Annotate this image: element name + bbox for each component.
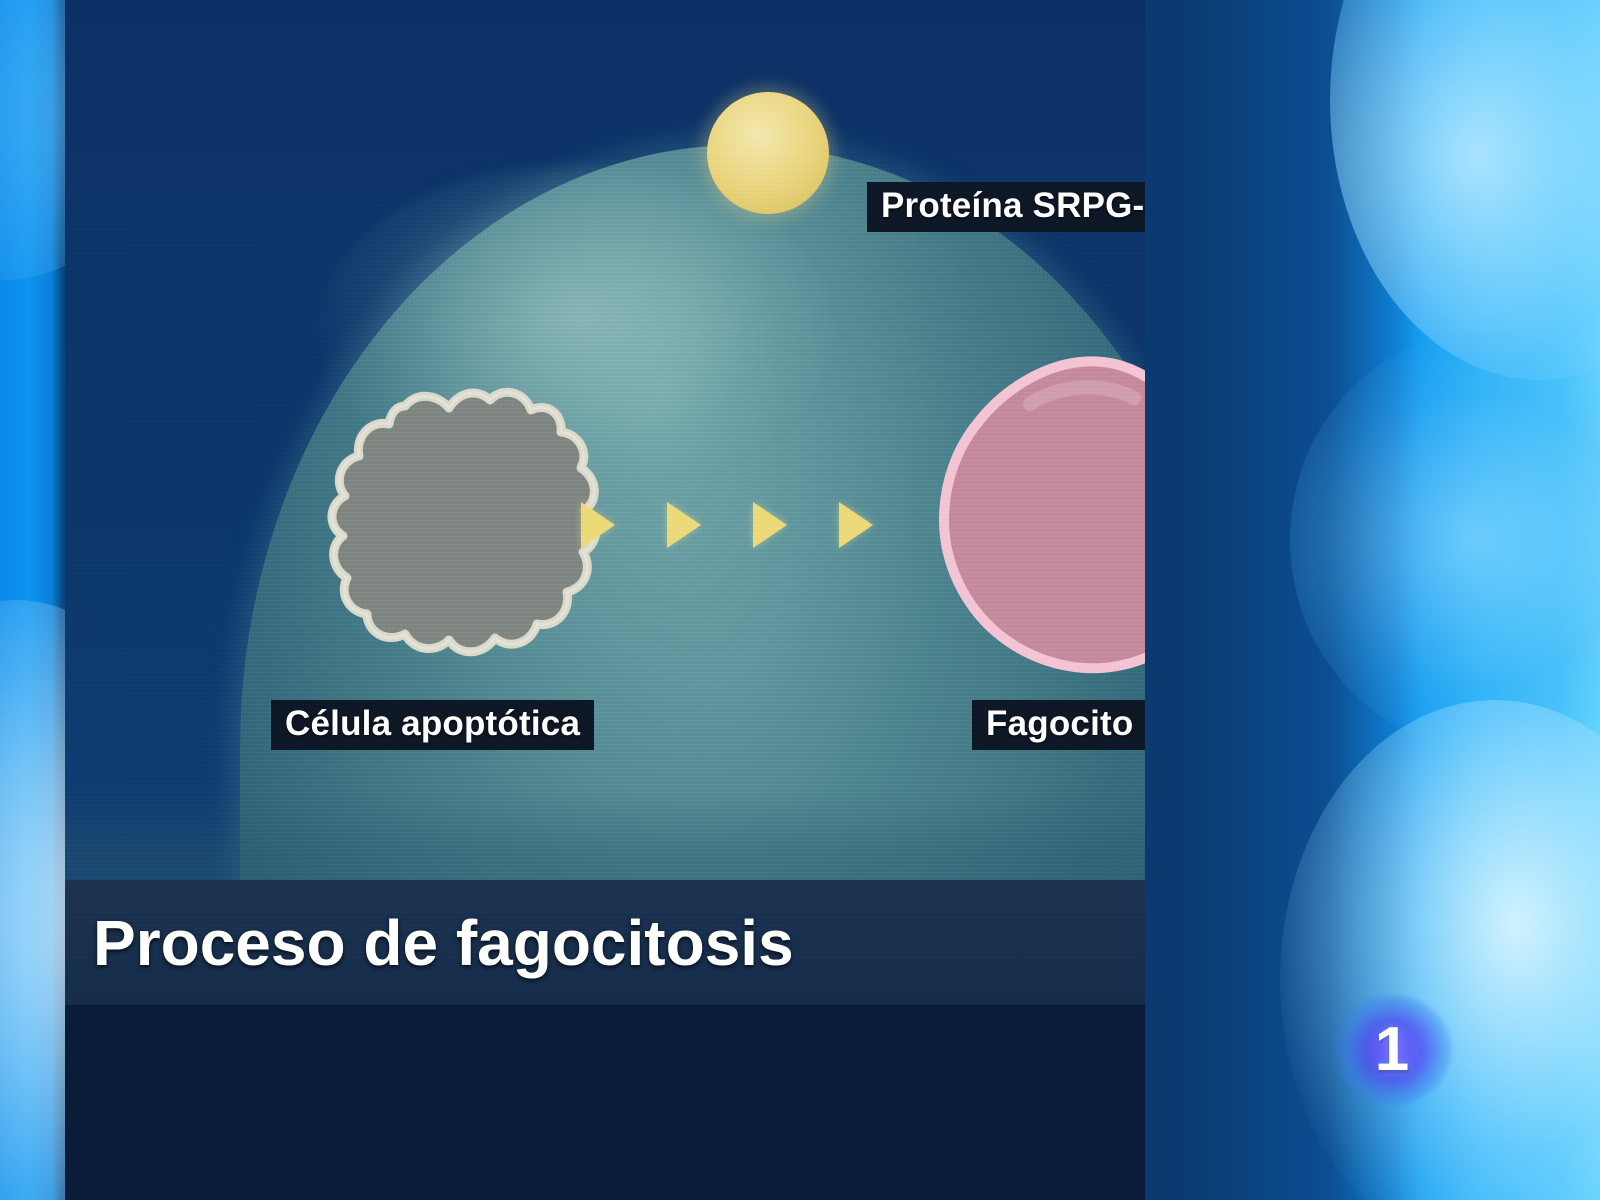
label-apoptotic-cell: Célula apoptótica: [271, 700, 594, 750]
subtitle-panel: [65, 1005, 1145, 1200]
broadcast-graphic-screenshot: Proteína SRPG-1 Célula apoptótica Fagoci…: [0, 0, 1600, 1200]
arrow-right-icon: [839, 502, 873, 548]
phagocyte-cell-shape: [920, 348, 1145, 678]
phagocyte-cell-icon: [920, 348, 1145, 678]
label-protein: Proteína SRPG-1: [867, 182, 1145, 232]
channel-logo-number: 1: [1332, 995, 1452, 1105]
channel-logo: 1: [1332, 995, 1452, 1105]
title-strip: Proceso de fagocitosis: [65, 880, 1145, 1005]
arrow-right-icon: [667, 502, 701, 548]
phagocytosis-arrow-group: [565, 496, 895, 558]
infographic-panel: Proteína SRPG-1 Célula apoptótica Fagoci…: [65, 0, 1145, 1005]
protein-dot-icon: [707, 92, 829, 214]
label-phagocyte: Fagocito: [972, 700, 1145, 750]
arrow-right-icon: [581, 502, 615, 548]
page-title: Proceso de fagocitosis: [93, 911, 794, 975]
arrow-right-icon: [753, 502, 787, 548]
